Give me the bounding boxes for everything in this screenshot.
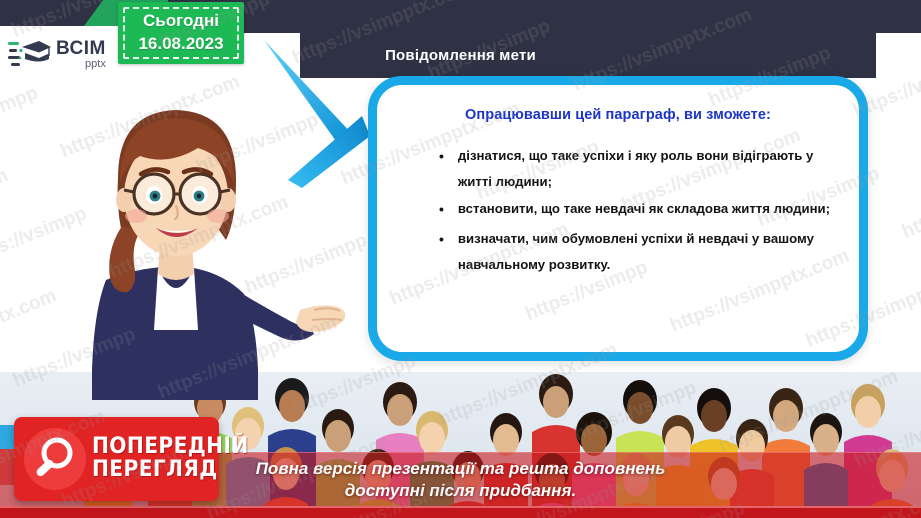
- page-title: Повідомлення мети: [385, 47, 536, 64]
- list-item-text: дізнатися, що таке успіхи і яку роль вон…: [458, 143, 833, 194]
- list-item-text: визначати, чим обумовлені успіхи й невда…: [458, 226, 833, 277]
- list-item-text: встановити, що таке невдачі як складова …: [458, 196, 833, 222]
- bullet-dot-icon: •: [439, 196, 444, 223]
- objectives-list: • дізнатися, що таке успіхи і яку роль в…: [403, 143, 833, 277]
- speech-bubble-tail: [258, 40, 378, 190]
- preview-badge-line2: ПЕРЕГЛЯД: [92, 459, 249, 482]
- graduation-cap-icon: [8, 37, 52, 71]
- preview-badge[interactable]: ПОПЕРЕДНІЙ ПЕРЕГЛЯД: [14, 417, 219, 501]
- list-item: • дізнатися, що таке успіхи і яку роль в…: [403, 143, 833, 194]
- logo-text: ВСІМ pptx: [56, 39, 106, 70]
- magnifier-icon: [24, 428, 86, 490]
- bullet-dot-icon: •: [439, 226, 444, 253]
- list-item: • визначати, чим обумовлені успіхи й нев…: [403, 226, 833, 277]
- bottom-red-strip: [0, 506, 921, 518]
- preview-badge-line1: ПОПЕРЕДНІЙ: [92, 436, 249, 459]
- purchase-notice-line1: Повна версія презентації та решта доповн…: [256, 458, 666, 480]
- bullet-dot-icon: •: [439, 143, 444, 170]
- date-badge: Сьогодні 16.08.2023: [118, 2, 244, 64]
- bubble-heading: Опрацювавши цей параграф, ви зможете:: [403, 107, 833, 123]
- logo-sub-text: pptx: [56, 59, 106, 70]
- date-badge-label: Сьогодні: [143, 10, 219, 33]
- preview-badge-text: ПОПЕРЕДНІЙ ПЕРЕГЛЯД: [92, 436, 262, 482]
- header-right-white-notch: [876, 33, 921, 78]
- brand-logo: ВСІМ pptx: [0, 26, 118, 82]
- speech-bubble: Опрацювавши цей параграф, ви зможете: • …: [368, 76, 868, 361]
- list-item: • встановити, що таке невдачі як складов…: [403, 196, 833, 223]
- date-badge-value: 16.08.2023: [138, 33, 223, 56]
- presentation-slide: Повідомлення мети ВСІМ pptx Сьогодні: [0, 0, 921, 518]
- purchase-notice-line2: доступні після придбання.: [345, 480, 576, 502]
- logo-main-text: ВСІМ: [56, 39, 106, 58]
